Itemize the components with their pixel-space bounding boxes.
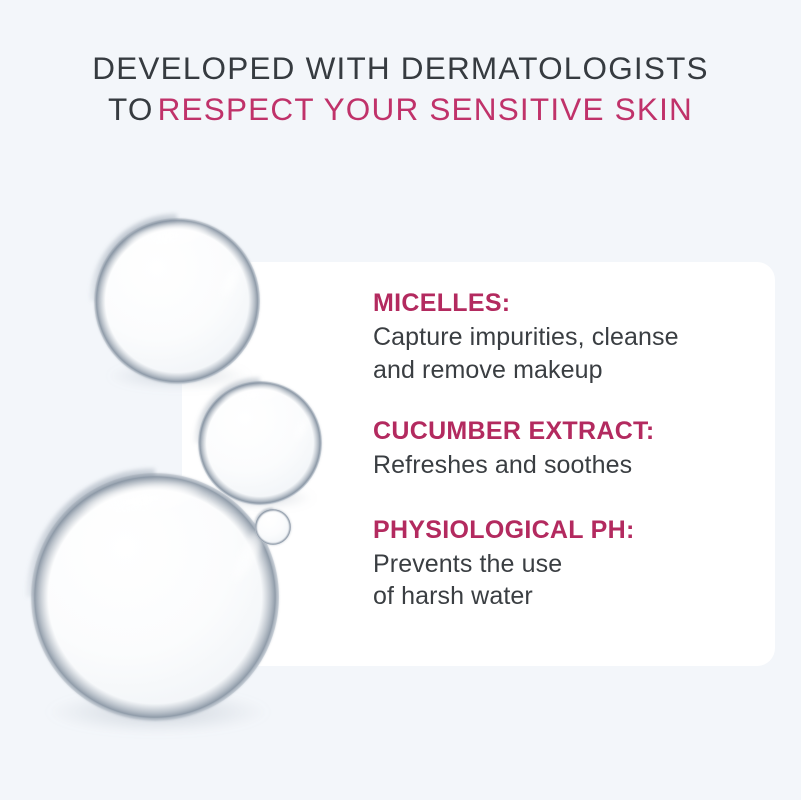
headline: DEVELOPED WITH DERMATOLOGISTS TORESPECT … <box>0 48 801 130</box>
benefit-description-micelles: Capture impurities, cleanse and remove m… <box>373 321 763 386</box>
benefit-item-cucumber-extract: CUCUMBER EXTRACT: Refreshes and soothes <box>373 416 763 482</box>
benefit-title-physiological-ph: PHYSIOLOGICAL PH: <box>373 515 763 546</box>
benefit-title-micelles: MICELLES: <box>373 288 763 319</box>
benefit-desc-line-1: Capture impurities, cleanse <box>373 321 763 354</box>
benefit-title-cucumber-extract: CUCUMBER EXTRACT: <box>373 416 763 447</box>
headline-line-1: DEVELOPED WITH DERMATOLOGISTS <box>0 48 801 89</box>
headline-line-2-accent: RESPECT YOUR SENSITIVE SKIN <box>158 91 693 127</box>
benefit-desc-line-2: and remove makeup <box>373 354 763 387</box>
headline-line-2-prefix: TO <box>108 91 154 127</box>
benefit-desc-line-1: Refreshes and soothes <box>373 449 763 482</box>
benefit-item-micelles: MICELLES: Capture impurities, cleanse an… <box>373 288 763 386</box>
promo-graphic: DEVELOPED WITH DERMATOLOGISTS TORESPECT … <box>0 0 801 800</box>
benefits-list: MICELLES: Capture impurities, cleanse an… <box>373 288 763 613</box>
headline-line-1-text: DEVELOPED WITH DERMATOLOGISTS <box>92 50 708 86</box>
benefit-description-cucumber-extract: Refreshes and soothes <box>373 449 763 482</box>
benefit-description-physiological-ph: Prevents the use of harsh water <box>373 548 763 613</box>
benefit-desc-line-2: of harsh water <box>373 580 763 613</box>
headline-line-2: TORESPECT YOUR SENSITIVE SKIN <box>0 89 801 130</box>
benefit-item-physiological-ph: PHYSIOLOGICAL PH: Prevents the use of ha… <box>373 515 763 613</box>
benefit-desc-line-1: Prevents the use <box>373 548 763 581</box>
